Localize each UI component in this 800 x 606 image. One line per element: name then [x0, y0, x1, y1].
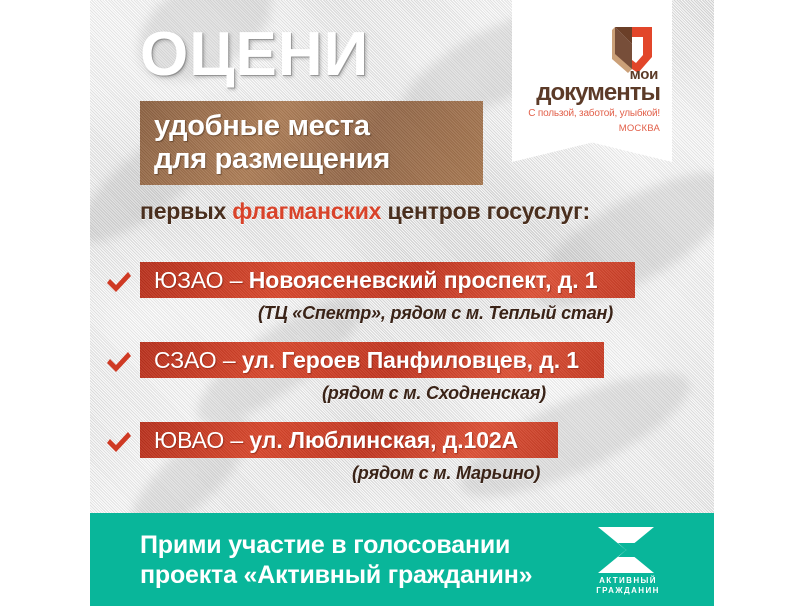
page-title: ОЦЕНИ — [140, 24, 369, 86]
active-citizen-wordmark: АКТИВНЫЙ ГРАЖДАНИН — [578, 576, 678, 596]
ag-name-line-1: АКТИВНЫЙ — [578, 576, 678, 586]
poster-root: ОЦЕНИ удобные места для размещения первы… — [0, 0, 800, 606]
address-bar: ЮВАО – ул. Люблинская, д.102А — [140, 422, 558, 458]
left-margin — [0, 0, 90, 606]
address-bar: СЗАО – ул. Героев Панфиловцев, д. 1 — [140, 342, 604, 378]
right-margin — [714, 0, 800, 606]
address-text: СЗАО – ул. Героев Панфиловцев, д. 1 — [154, 347, 579, 374]
address-bar: ЮЗАО – Новоясеневский проспект, д. 1 — [140, 262, 635, 298]
address-district: СЗАО – — [154, 347, 242, 373]
address-note: (ТЦ «Спектр», рядом с м. Теплый стан) — [258, 303, 613, 324]
banner-line-2: для размещения — [154, 143, 390, 176]
moi-dokumenty-logo: мои документы С пользой, заботой, улыбко… — [512, 0, 672, 162]
ag-name-line-2: ГРАЖДАНИН — [578, 586, 678, 596]
address-street: ул. Героев Панфиловцев, д. 1 — [242, 347, 579, 373]
logo-city: МОСКВА — [512, 123, 660, 134]
list-item: ЮВАО – ул. Люблинская, д.102А (рядом с м… — [0, 418, 800, 498]
checkmark-icon — [106, 271, 132, 295]
address-list: ЮЗАО – Новоясеневский проспект, д. 1 (ТЦ… — [0, 258, 800, 498]
footer-banner: Прими участие в голосовании проекта «Акт… — [90, 513, 714, 606]
address-note: (рядом с м. Сходненская) — [322, 383, 546, 404]
list-item: ЮЗАО – Новоясеневский проспект, д. 1 (ТЦ… — [0, 258, 800, 338]
checkmark-icon — [106, 431, 132, 455]
list-item: СЗАО – ул. Героев Панфиловцев, д. 1 (ряд… — [0, 338, 800, 418]
moi-dokumenty-wordmark: мои документы — [512, 68, 660, 105]
address-note: (рядом с м. Марьино) — [352, 463, 540, 484]
subtitle-after: центров госуслуг: — [381, 198, 590, 224]
logo-word-dokumenty: документы — [512, 81, 660, 105]
footer-call-to-action: Прими участие в голосовании проекта «Акт… — [140, 530, 532, 590]
address-text: ЮВАО – ул. Люблинская, д.102А — [154, 427, 518, 454]
footer-line-2: проекта «Активный гражданин» — [140, 560, 532, 590]
subtitle-before: первых — [140, 198, 232, 224]
active-citizen-logo: АКТИВНЫЙ ГРАЖДАНИН — [578, 527, 678, 599]
address-text: ЮЗАО – Новоясеневский проспект, д. 1 — [154, 267, 597, 294]
footer-line-1: Прими участие в голосовании — [140, 530, 532, 560]
address-district: ЮЗАО – — [154, 267, 249, 293]
subtitle-highlight: флагманских — [232, 198, 381, 224]
address-district: ЮВАО – — [154, 427, 249, 453]
logo-tagline: С пользой, заботой, улыбкой! — [512, 108, 660, 119]
address-street: Новоясеневский проспект, д. 1 — [249, 267, 598, 293]
checkmark-icon — [106, 351, 132, 375]
active-citizen-arrow-icon — [598, 527, 660, 573]
subtitle-banner: удобные места для размещения — [140, 101, 483, 185]
banner-line-1: удобные места — [154, 110, 370, 143]
subtitle-text: первых флагманских центров госуслуг: — [140, 198, 590, 225]
address-street: ул. Люблинская, д.102А — [249, 427, 518, 453]
